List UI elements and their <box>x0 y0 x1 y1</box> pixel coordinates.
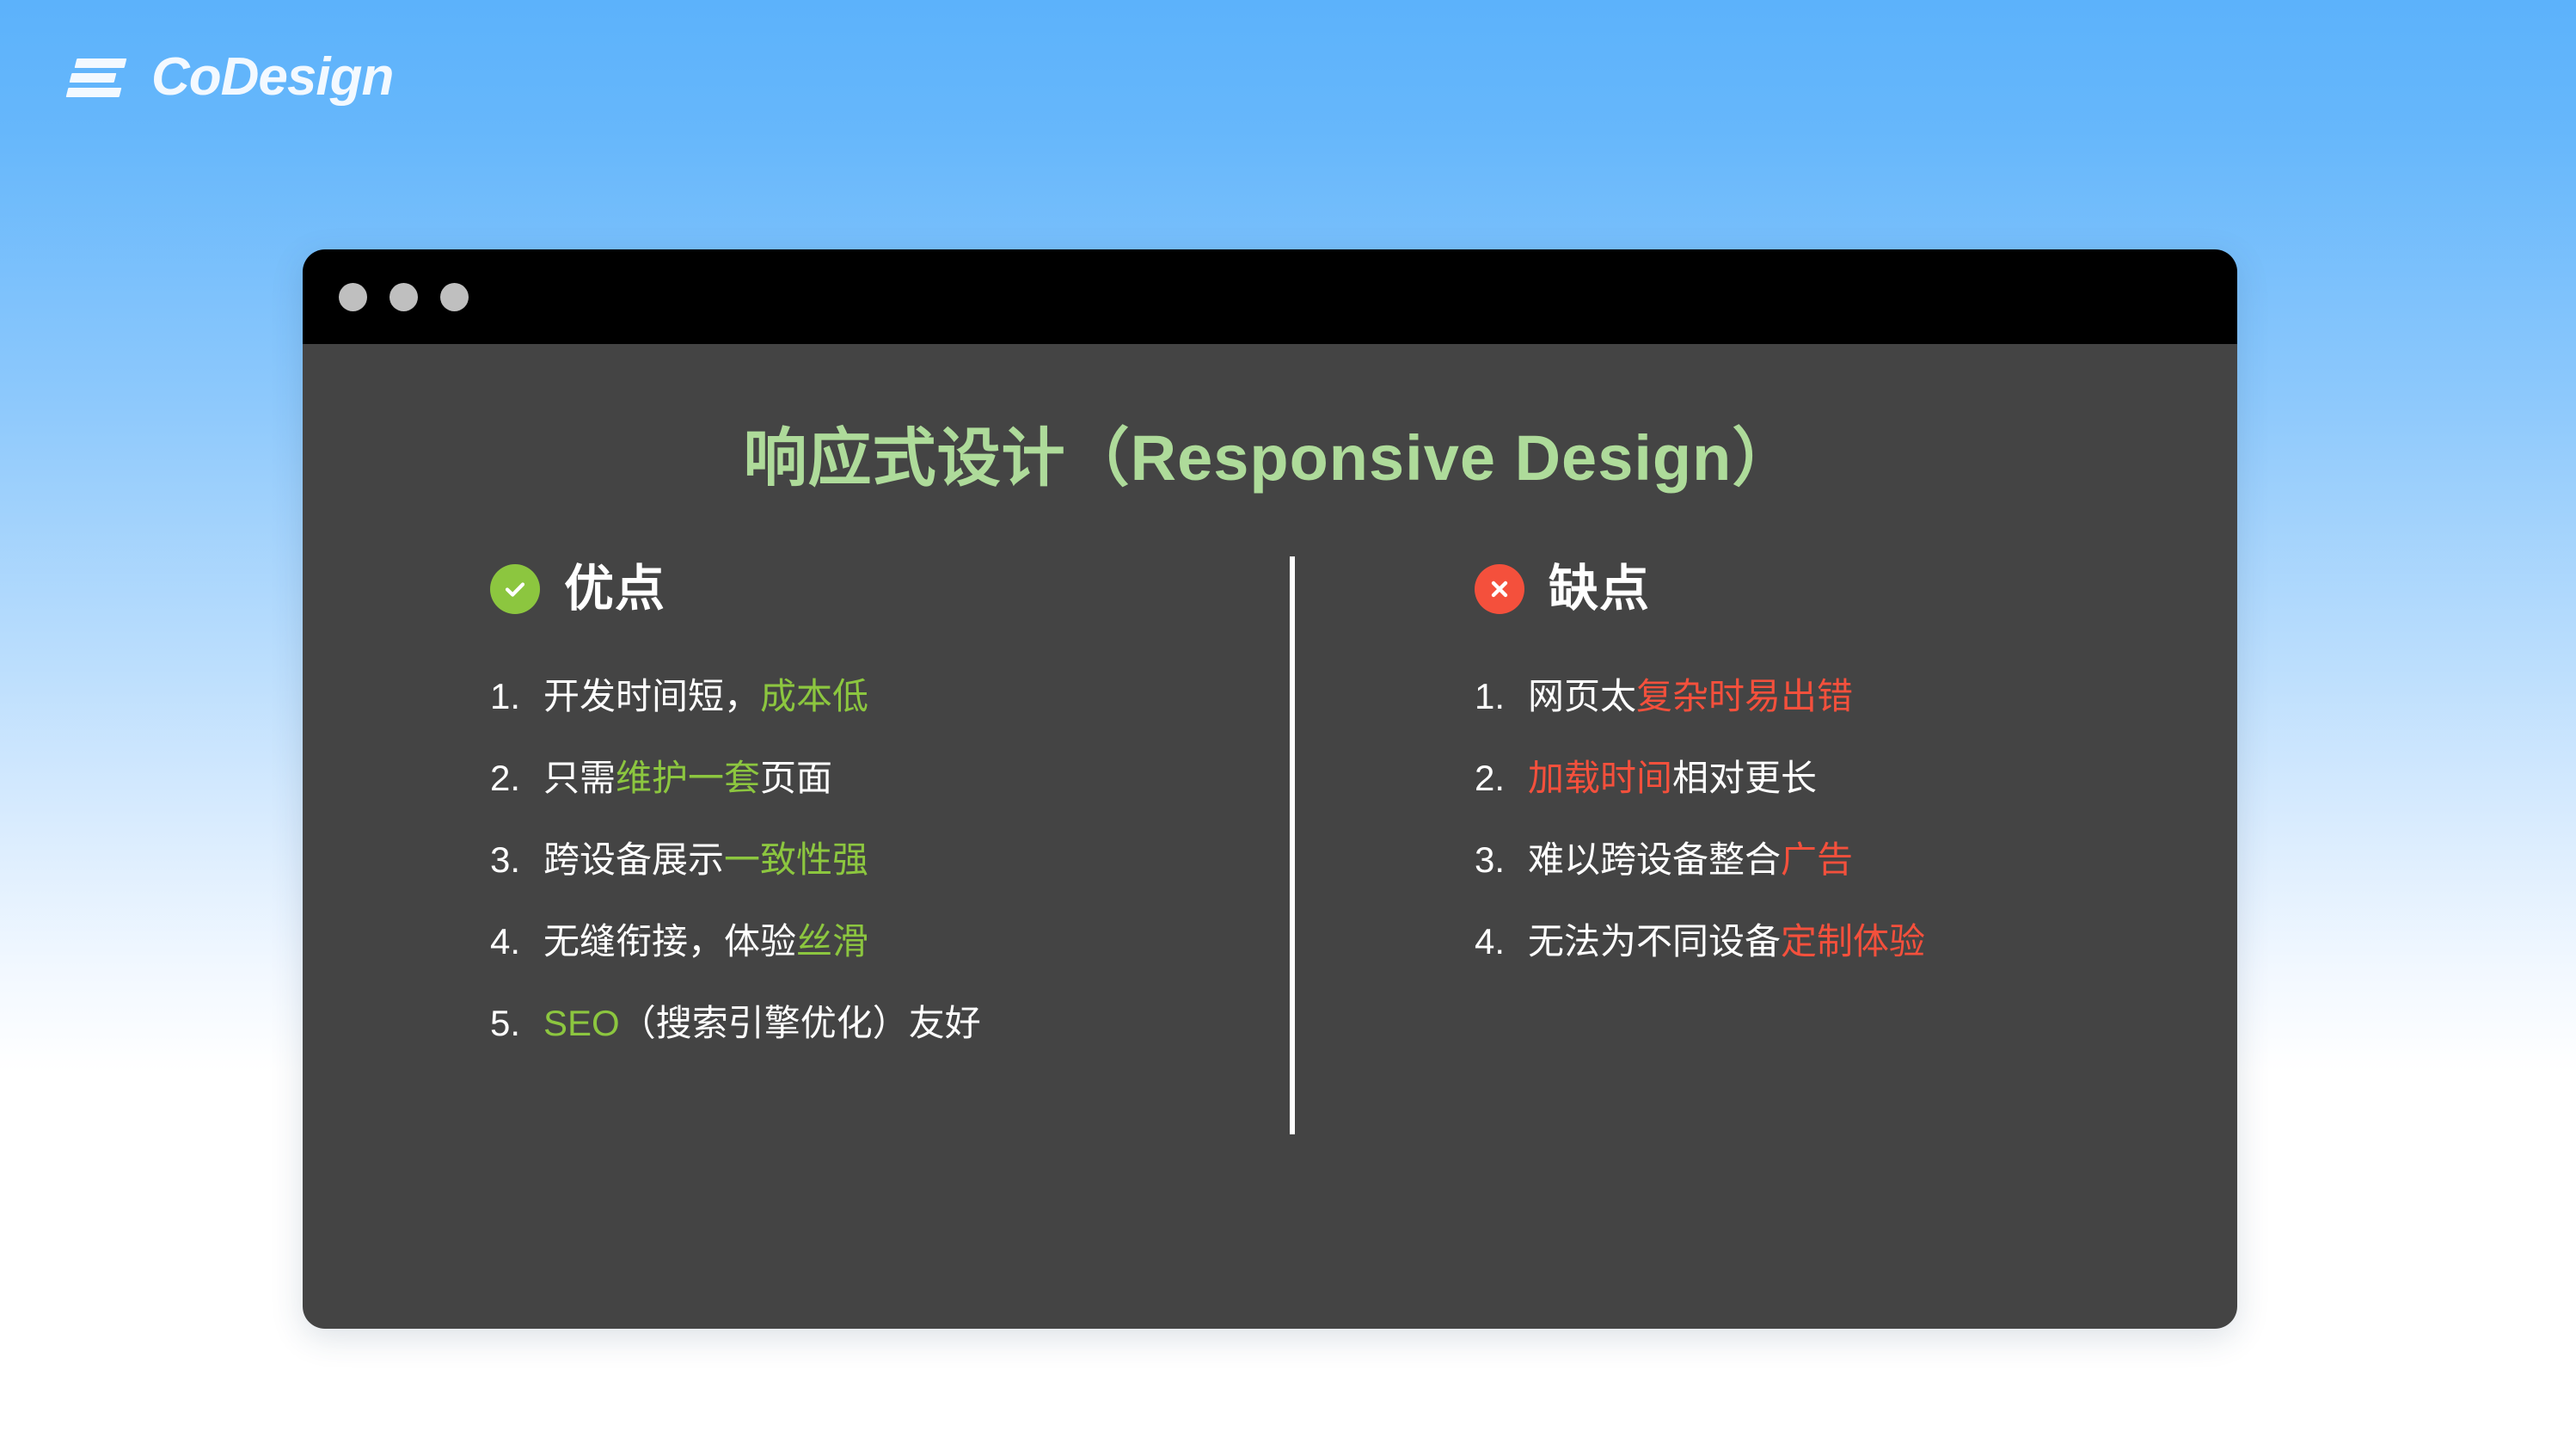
list-item-text: 跨设备展示一致性强 <box>543 842 868 878</box>
cons-heading: 缺点 <box>1475 556 2237 622</box>
list-item-segment: 难以跨设备整合 <box>1528 839 1781 880</box>
pros-heading-label: 优点 <box>564 564 665 614</box>
list-item-segment: 网页太 <box>1528 676 1636 716</box>
cons-column: 缺点 1.网页太复杂时易出错2.加载时间相对更长3.难以跨设备整合广告4.无法为… <box>1270 556 2237 1041</box>
list-item-text: 开发时间短，成本低 <box>543 679 868 715</box>
list-item-number: 1. <box>490 679 543 715</box>
list-item: 2.加载时间相对更长 <box>1475 760 2237 796</box>
list-item-segment: 页面 <box>760 758 832 798</box>
check-circle-icon <box>490 564 540 614</box>
list-item-segment: 跨设备展示 <box>543 839 724 880</box>
window-dot-maximize-icon[interactable] <box>440 283 469 311</box>
list-item-segment: 一致性强 <box>724 839 868 880</box>
list-item-segment: （搜索引擎优化）友好 <box>620 1003 981 1043</box>
cons-heading-label: 缺点 <box>1549 564 1650 614</box>
list-item-number: 4. <box>1475 924 1528 960</box>
window-dot-minimize-icon[interactable] <box>389 283 418 311</box>
brand-logo: CoDesign <box>67 45 393 110</box>
brand-name: CoDesign <box>151 51 393 104</box>
list-item: 2.只需维护一套页面 <box>490 760 1270 796</box>
list-item-segment: 开发时间短， <box>543 676 760 716</box>
list-item: 4.无法为不同设备定制体验 <box>1475 924 2237 960</box>
cons-list: 1.网页太复杂时易出错2.加载时间相对更长3.难以跨设备整合广告4.无法为不同设… <box>1475 679 2237 960</box>
column-divider <box>1290 556 1295 1134</box>
list-item-number: 3. <box>1475 842 1528 878</box>
list-item-text: 加载时间相对更长 <box>1528 760 1817 796</box>
list-item-number: 2. <box>1475 760 1528 796</box>
list-item-segment: 无缝衔接，体验 <box>543 921 796 962</box>
list-item-number: 2. <box>490 760 543 796</box>
list-item-text: 只需维护一套页面 <box>543 760 832 796</box>
list-item-number: 4. <box>490 924 543 960</box>
pros-list: 1.开发时间短，成本低2.只需维护一套页面3.跨设备展示一致性强4.无缝衔接，体… <box>490 679 1270 1041</box>
three-bars-logo-icon <box>67 55 129 100</box>
list-item: 3.跨设备展示一致性强 <box>490 842 1270 878</box>
page-title: 响应式设计（Responsive Design） <box>303 344 2237 493</box>
window-dot-close-icon[interactable] <box>339 283 367 311</box>
slide-page: CoDesign 响应式设计（Responsive Design） <box>0 0 2576 1450</box>
list-item-segment: 复杂时易出错 <box>1636 676 1853 716</box>
list-item-segment: 成本低 <box>760 676 868 716</box>
list-item-segment: 维护一套 <box>616 758 760 798</box>
window-traffic-lights <box>339 283 469 311</box>
list-item-text: 无缝衔接，体验丝滑 <box>543 924 868 960</box>
list-item-text: 难以跨设备整合广告 <box>1528 842 1853 878</box>
list-item-segment: 广告 <box>1781 839 1853 880</box>
list-item-text: 网页太复杂时易出错 <box>1528 679 1853 715</box>
browser-window-card: 响应式设计（Responsive Design） 优点 1.开发时间短，成本低2… <box>303 249 2237 1329</box>
list-item-segment: SEO <box>543 1003 620 1043</box>
comparison-columns: 优点 1.开发时间短，成本低2.只需维护一套页面3.跨设备展示一致性强4.无缝衔… <box>303 556 2237 1041</box>
list-item: 4.无缝衔接，体验丝滑 <box>490 924 1270 960</box>
window-titlebar <box>303 249 2237 344</box>
list-item-text: 无法为不同设备定制体验 <box>1528 924 1925 960</box>
list-item-segment: 定制体验 <box>1781 921 1925 962</box>
list-item-number: 5. <box>490 1005 543 1041</box>
list-item-text: SEO（搜索引擎优化）友好 <box>543 1005 981 1041</box>
list-item: 1.开发时间短，成本低 <box>490 679 1270 715</box>
list-item-segment: 只需 <box>543 758 616 798</box>
list-item: 5.SEO（搜索引擎优化）友好 <box>490 1005 1270 1041</box>
list-item-segment: 相对更长 <box>1672 758 1817 798</box>
list-item: 3.难以跨设备整合广告 <box>1475 842 2237 878</box>
list-item-segment: 无法为不同设备 <box>1528 921 1781 962</box>
window-content: 响应式设计（Responsive Design） 优点 1.开发时间短，成本低2… <box>303 344 2237 1329</box>
list-item: 1.网页太复杂时易出错 <box>1475 679 2237 715</box>
x-circle-icon <box>1475 564 1524 614</box>
list-item-number: 1. <box>1475 679 1528 715</box>
list-item-segment: 加载时间 <box>1528 758 1672 798</box>
pros-column: 优点 1.开发时间短，成本低2.只需维护一套页面3.跨设备展示一致性强4.无缝衔… <box>303 556 1270 1041</box>
list-item-number: 3. <box>490 842 543 878</box>
pros-heading: 优点 <box>490 556 1270 622</box>
list-item-segment: 丝滑 <box>796 921 868 962</box>
